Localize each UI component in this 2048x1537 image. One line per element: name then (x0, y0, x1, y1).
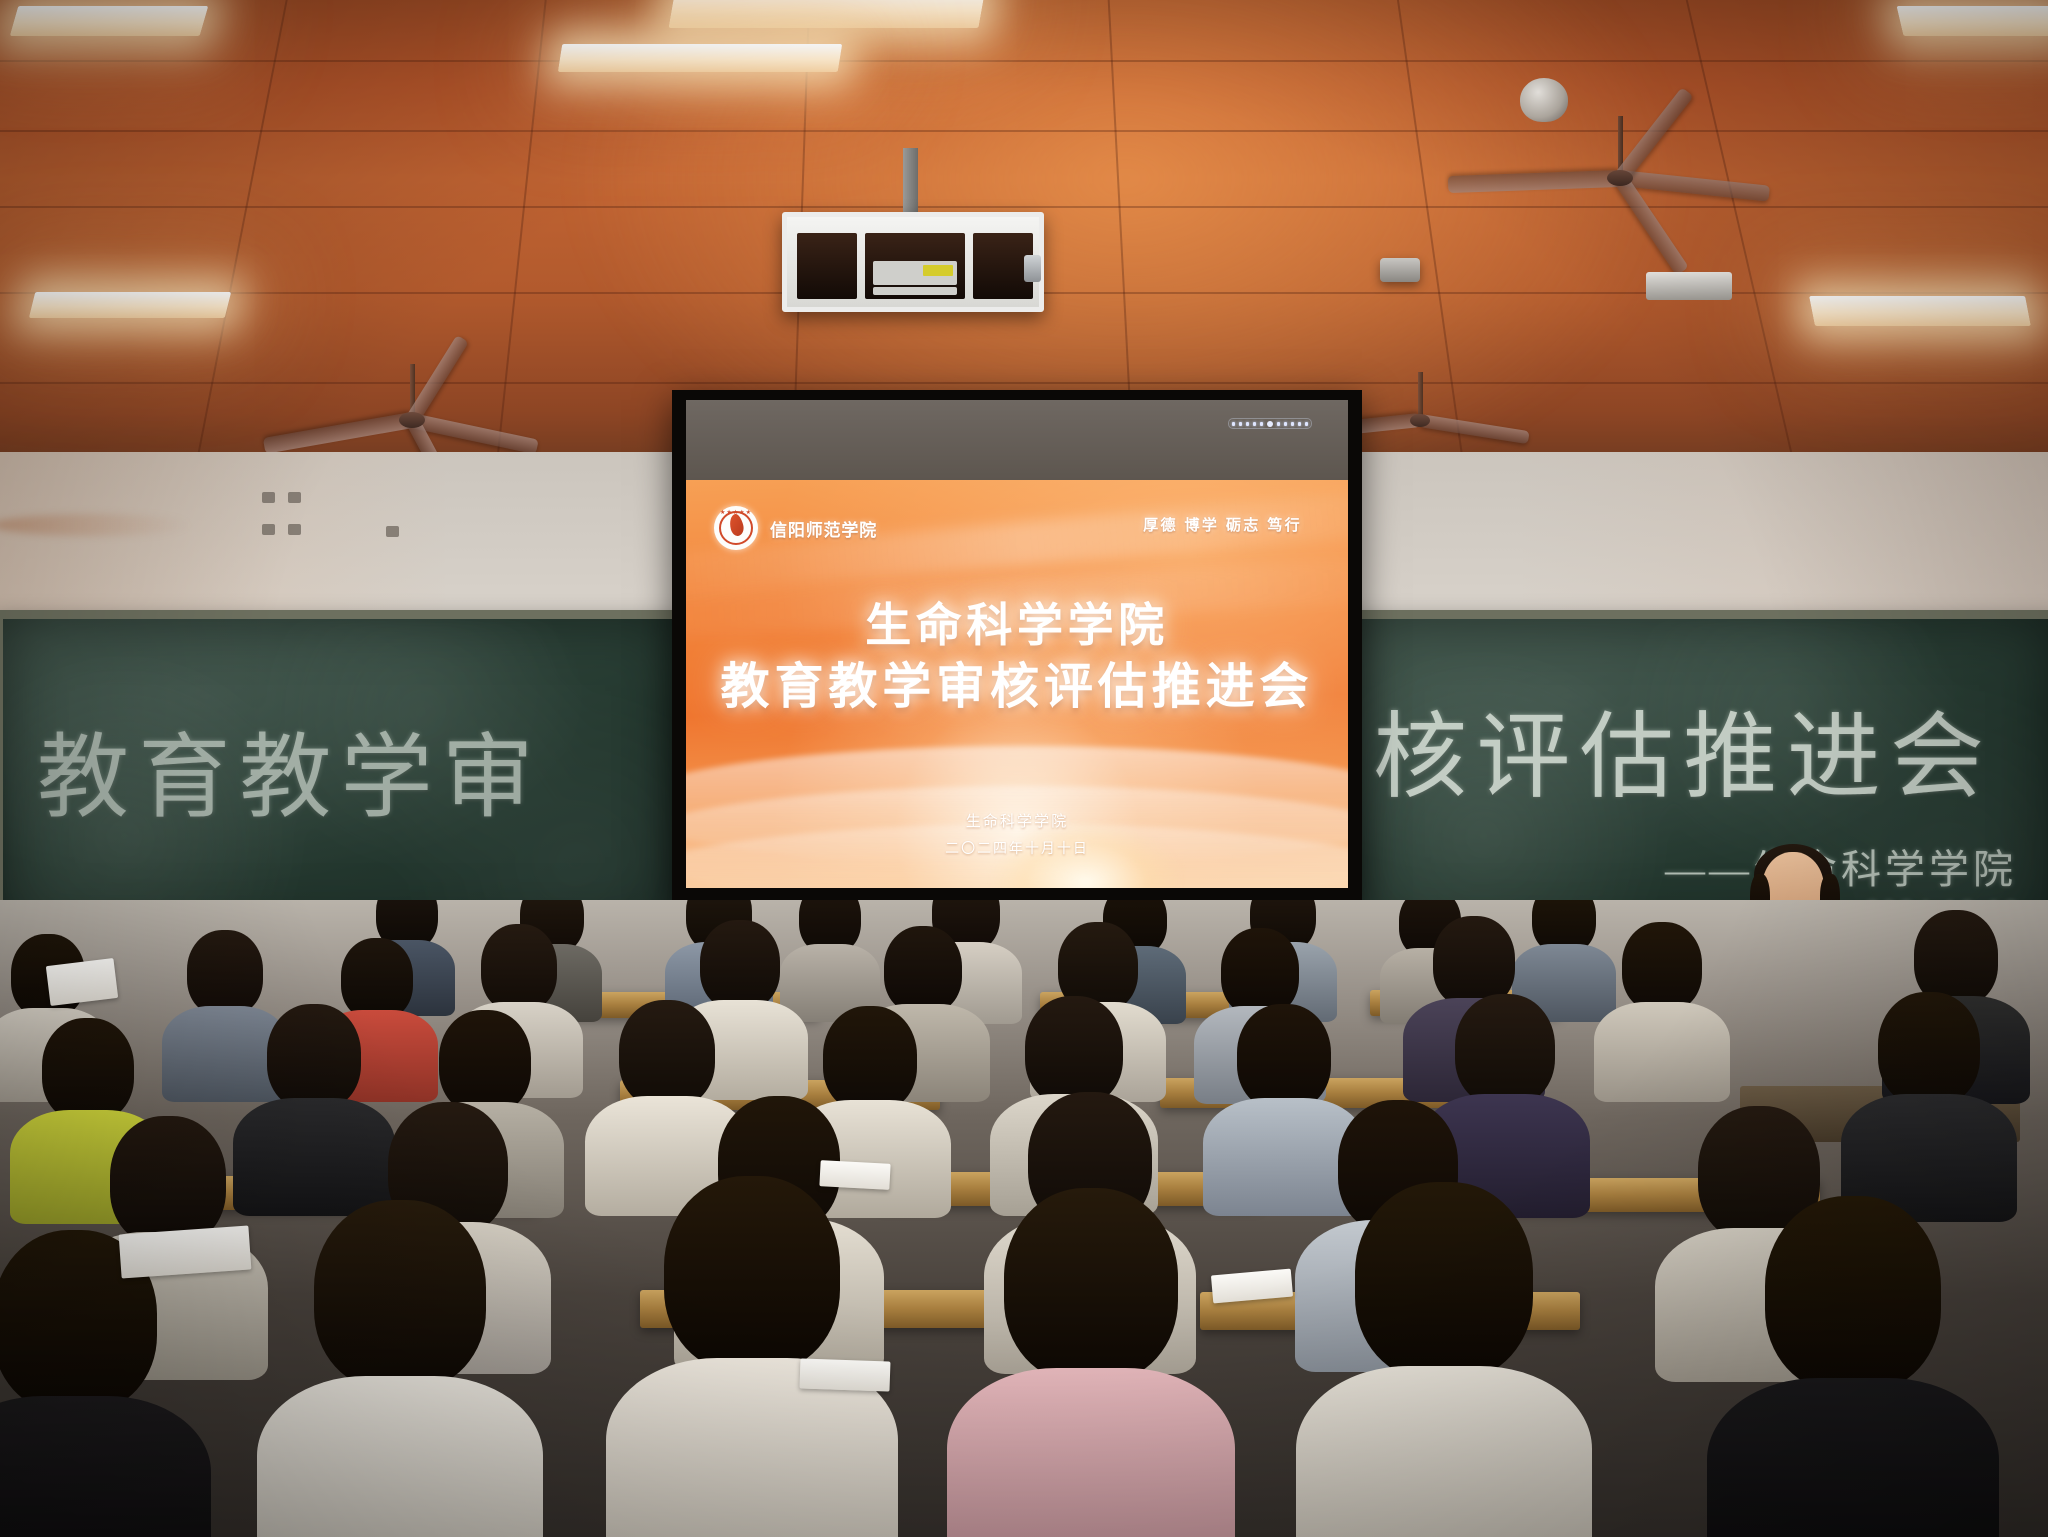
ceiling-light-panel (558, 44, 842, 72)
slide-date: 二〇二四年十月十日 (686, 838, 1348, 858)
ceiling-light-panel (668, 0, 985, 28)
audience-member (1862, 992, 1996, 1190)
handout-paper (819, 1160, 890, 1190)
projector-mount (903, 148, 918, 216)
classroom-photo-scene: 12 1 2 3 4 5 6 7 8 9 10 11 教育教学审 核评估推进会 (0, 0, 2048, 1537)
slide-university-name: 信阳师范学院 (770, 516, 877, 541)
projector-cabinet (782, 212, 1044, 312)
audience-member (1522, 900, 1606, 1006)
projection-screen: ★★★★★ 信阳师范学院 厚德 博学 砺志 笃行 生命科学学院 教育教学审核评估… (686, 400, 1348, 888)
ceiling-light-panel (29, 292, 231, 318)
wall-outlet (288, 492, 301, 503)
audience-member (252, 1004, 376, 1190)
ceiling-light-panel (1897, 6, 2048, 36)
cabinet-lock-icon (1024, 255, 1041, 282)
handout-paper (800, 1358, 891, 1391)
audience-member (640, 1176, 864, 1526)
slide-motto: 厚德 博学 砺志 笃行 (1143, 514, 1302, 535)
audience-member (290, 1200, 510, 1537)
slide-title-line-1: 生命科学学院 (686, 600, 1348, 652)
wall-outlet (288, 524, 301, 535)
handout-paper (119, 1226, 252, 1279)
wall-outlet (262, 524, 275, 535)
wall-outlet (386, 526, 399, 537)
screen-status-leds (1228, 418, 1312, 429)
slide-subtitle-block: 生命科学学院 二〇二四年十月十日 (686, 810, 1348, 858)
audience-member (1610, 922, 1714, 1082)
projection-screen-frame: ★★★★★ 信阳师范学院 厚德 博学 砺志 笃行 生命科学学院 教育教学审核评估… (672, 390, 1362, 902)
audience-member (790, 900, 870, 1006)
audience-area (0, 900, 2048, 1537)
blackboard-right-text: 核评估推进会 (1373, 681, 1993, 817)
handout-paper (46, 958, 118, 1006)
presentation-slide: ★★★★★ 信阳师范学院 厚德 博学 砺志 笃行 生命科学学院 教育教学审核评估… (686, 480, 1348, 888)
wall-outlet (262, 492, 275, 503)
blackboard-right: 核评估推进会 ——生命科学学院 2024.10.10 (1350, 610, 2048, 938)
dome-camera-icon (1520, 78, 1568, 122)
audience-member (1740, 1196, 1966, 1537)
blackboard-left: 教育教学审 (0, 610, 686, 938)
ceiling-light-panel (10, 6, 209, 36)
slide-title-block: 生命科学学院 教育教学审核评估推进会 (686, 600, 1348, 715)
audience-member (980, 1188, 1202, 1534)
slide-university-brand: ★★★★★ 信阳师范学院 (714, 506, 877, 550)
university-seal-icon: ★★★★★ (714, 506, 758, 550)
slide-title-line-2: 教育教学审核评估推进会 (686, 658, 1348, 716)
ceiling-speaker (1380, 258, 1420, 282)
slide-subtitle: 生命科学学院 (686, 810, 1348, 831)
ceiling-light-panel (1809, 296, 2031, 326)
seal-stars-icon: ★★★★★ (714, 509, 758, 516)
wall-mounted-unit (1646, 272, 1732, 300)
audience-member (1330, 1182, 1558, 1534)
blackboard-left-text: 教育教学审 (37, 703, 543, 836)
screen-letterbox (686, 400, 1348, 480)
